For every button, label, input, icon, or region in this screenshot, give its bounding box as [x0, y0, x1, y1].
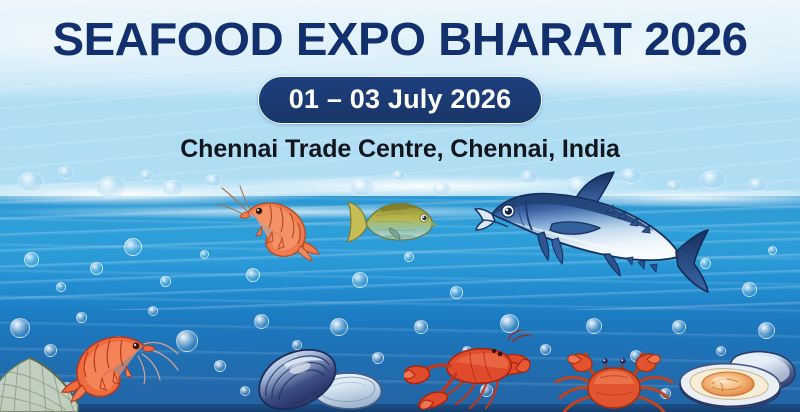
- mussels: [244, 340, 390, 412]
- oyster: [672, 348, 798, 412]
- lobster: [404, 330, 532, 412]
- venue-text: Chennai Trade Centre, Chennai, India: [0, 134, 800, 164]
- shrimp-lower: [52, 318, 184, 406]
- tuna: [470, 168, 710, 306]
- crab: [548, 344, 680, 412]
- page-title: SEAFOOD EXPO BHARAT 2026: [0, 14, 800, 64]
- small-fish: [344, 192, 440, 254]
- shrimp-upper: [212, 182, 332, 266]
- date-badge: 01 – 03 July 2026: [258, 76, 543, 124]
- date-badge-wrapper: 01 – 03 July 2026: [0, 76, 800, 124]
- seafood-expo-banner: SEAFOOD EXPO BHARAT 2026 01 – 03 July 20…: [0, 0, 800, 412]
